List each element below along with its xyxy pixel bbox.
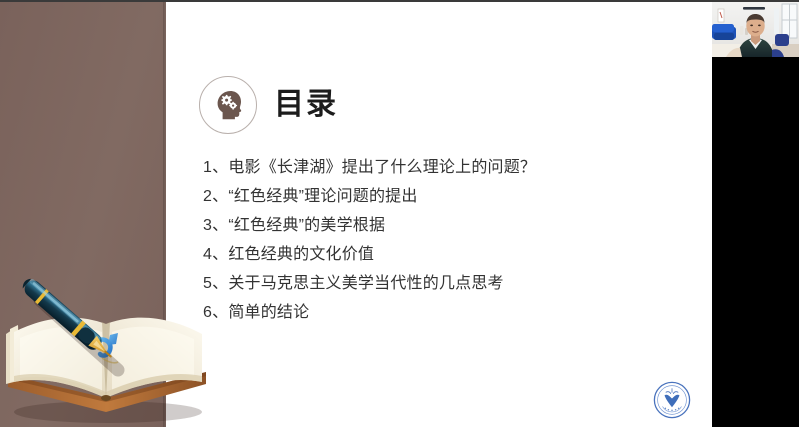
list-item-index: 3、 [203,217,228,234]
screen-root: 目录 1、电影《长津湖》提出了什么理论上的问题？ 2、“红色经典”理论问题的提出… [0,0,799,427]
list-item-index: 6、 [203,304,228,321]
agenda-list: 1、电影《长津湖》提出了什么理论上的问题？ 2、“红色经典”理论问题的提出 3、… [203,153,673,327]
head-with-gears-icon [199,76,257,134]
slide-canvas: 目录 1、电影《长津湖》提出了什么理论上的问题？ 2、“红色经典”理论问题的提出… [0,0,712,427]
presenter-video-thumbnail[interactable] [712,0,799,57]
list-item-index: 4、 [203,246,228,263]
open-book-with-fountain-pen-icon [2,272,214,427]
list-item-text: 电影《长津湖》提出了什么理论上的问题？ [228,159,536,176]
list-item: 3、“红色经典”的美学根据 [203,211,673,240]
right-black-surround [712,0,799,427]
list-item: 1、电影《长津湖》提出了什么理论上的问题？ [203,153,673,182]
list-item-index: 5、 [203,275,228,292]
list-item: 6、简单的结论 [203,298,673,327]
list-item: 5、关于马克思主义美学当代性的几点思考 [203,269,673,298]
list-item-index: 1、 [203,159,228,176]
list-item-text: “红色经典”的美学根据 [228,217,385,234]
list-item: 4、红色经典的文化价值 [203,240,673,269]
list-item-text: 简单的结论 [228,304,309,321]
list-item-text: “红色经典”理论问题的提出 [228,188,417,205]
list-item-text: 红色经典的文化价值 [228,246,374,263]
page-title: 目录 [274,90,338,120]
list-item: 2、“红色经典”理论问题的提出 [203,182,673,211]
top-edge-line [0,0,799,2]
list-item-text: 关于马克思主义美学当代性的几点思考 [228,275,503,292]
university-seal-logo [653,381,691,419]
list-item-index: 2、 [203,188,228,205]
slide-title-row: 目录 [199,76,338,134]
